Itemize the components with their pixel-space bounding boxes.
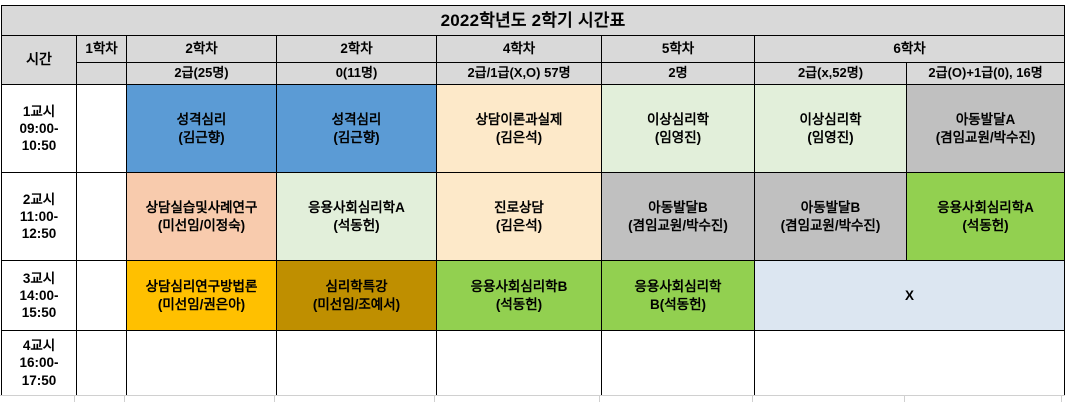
course-name: 응용사회심리학	[604, 278, 752, 295]
course-teacher: B(석동헌)	[604, 296, 752, 313]
header-sub-row: 2급(25명) 0(11명) 2급/1급(X,O) 57명 2명 2급(x,52…	[2, 63, 1065, 85]
header-sub-5: 2명	[602, 63, 755, 85]
course-name: 이상심리학	[604, 111, 752, 128]
period-label-3: 3교시 14:00- 15:50	[2, 261, 77, 331]
period-start: 09:00-	[19, 121, 58, 136]
table-row: 4교시 16:00- 17:50	[2, 331, 1065, 396]
class-cell-r1c6[interactable]: 이상심리학 (임영진)	[755, 85, 907, 173]
course-name: 상담이론과실제	[439, 111, 599, 128]
class-cell-r4c3[interactable]	[277, 331, 437, 396]
header-term-4: 4학차	[437, 36, 602, 63]
header-sub-2: 2급(25명)	[127, 63, 277, 85]
table-row: 3교시 14:00- 15:50 상담심리연구방법론 (미선임/권은아) 심리학…	[2, 261, 1065, 331]
course-teacher: (임영진)	[757, 129, 904, 146]
header-sub-4: 2급/1급(X,O) 57명	[437, 63, 602, 85]
class-cell-r2c3[interactable]: 응용사회심리학A (석동헌)	[277, 173, 437, 261]
class-cell-r1c3[interactable]: 성격심리 (김근향)	[277, 85, 437, 173]
period-end: 12:50	[22, 226, 57, 241]
period-start: 14:00-	[19, 288, 58, 303]
course-teacher: (미선임/권은아)	[129, 296, 274, 313]
table-row: 2교시 11:00- 12:50 상담실습및사례연구 (미선임/이정숙) 응용사…	[2, 173, 1065, 261]
class-cell-r3c4[interactable]: 응용사회심리학B (석동헌)	[437, 261, 602, 331]
course-name: 상담심리연구방법론	[129, 278, 274, 295]
header-term-2: 2학차	[127, 36, 277, 63]
course-teacher: (미선임/이정숙)	[129, 217, 274, 234]
course-teacher: (미선임/조예서)	[279, 296, 434, 313]
course-name: 상담실습및사례연구	[129, 199, 274, 216]
header-term-row: 시간 1학차 2학차 2학차 4학차 5학차 6학차	[2, 36, 1065, 63]
header-sub-6a: 2급(x,52명)	[755, 63, 907, 85]
course-teacher: (김은석)	[439, 129, 599, 146]
course-name: 심리학특강	[279, 278, 434, 295]
course-teacher: (석동헌)	[909, 217, 1062, 234]
course-name: 응용사회심리학A	[279, 199, 434, 216]
period-label-2: 2교시 11:00- 12:50	[2, 173, 77, 261]
page-title: 2022학년도 2학기 시간표	[2, 6, 1065, 36]
class-cell-r2c1[interactable]	[77, 173, 127, 261]
course-teacher: (임영진)	[604, 129, 752, 146]
class-cell-r1c1[interactable]	[77, 85, 127, 173]
class-cell-r1c2[interactable]: 성격심리 (김근향)	[127, 85, 277, 173]
course-name: X	[757, 287, 1062, 304]
course-teacher: (석동헌)	[279, 217, 434, 234]
course-name: 아동발달A	[909, 111, 1062, 128]
class-cell-r3c1[interactable]	[77, 261, 127, 331]
class-cell-r2c4[interactable]: 진로상담 (김은석)	[437, 173, 602, 261]
course-teacher: (김근향)	[279, 129, 434, 146]
class-cell-r3c3[interactable]: 심리학특강 (미선임/조예서)	[277, 261, 437, 331]
class-cell-r2c7[interactable]: 응용사회심리학A (석동헌)	[907, 173, 1065, 261]
class-cell-r1c4[interactable]: 상담이론과실제 (김은석)	[437, 85, 602, 173]
header-term-3: 2학차	[277, 36, 437, 63]
header-sub-6b: 2급(O)+1급(0), 16명	[907, 63, 1065, 85]
course-teacher: (김근향)	[129, 129, 274, 146]
header-sub-1	[77, 63, 127, 85]
period-end: 10:50	[22, 138, 57, 153]
period-name: 3교시	[23, 271, 55, 286]
period-start: 16:00-	[19, 355, 58, 370]
title-row: 2022학년도 2학기 시간표	[2, 6, 1065, 36]
period-start: 11:00-	[20, 209, 58, 224]
header-time-label: 시간	[2, 36, 77, 85]
spreadsheet-sheet: 2022학년도 2학기 시간표 시간 1학차 2학차 2학차 4학차 5학차 6…	[0, 0, 1065, 401]
table-row: 1교시 09:00- 10:50 성격심리 (김근향) 성격심리 (김근향)	[2, 85, 1065, 173]
period-name: 2교시	[23, 192, 55, 207]
course-teacher: (겸임교원/박수진)	[604, 217, 752, 234]
course-teacher: (석동헌)	[439, 296, 599, 313]
class-cell-r2c5[interactable]: 아동발달B (겸임교원/박수진)	[602, 173, 755, 261]
course-name: 응용사회심리학B	[439, 278, 599, 295]
period-label-4: 4교시 16:00- 17:50	[2, 331, 77, 396]
course-name: 아동발달B	[604, 199, 752, 216]
class-cell-r3c6-merged[interactable]: X	[755, 261, 1065, 331]
course-teacher: (김은석)	[439, 217, 599, 234]
class-cell-r2c6[interactable]: 아동발달B (겸임교원/박수진)	[755, 173, 907, 261]
period-end: 15:50	[22, 305, 57, 320]
sheet-bottom-edge	[0, 395, 1065, 401]
header-term-1: 1학차	[77, 36, 127, 63]
class-cell-r4c6-merged[interactable]	[755, 331, 1065, 396]
period-label-1: 1교시 09:00- 10:50	[2, 85, 77, 173]
course-name: 성격심리	[279, 111, 434, 128]
header-sub-3: 0(11명)	[277, 63, 437, 85]
course-name: 진로상담	[439, 199, 599, 216]
course-teacher: (겸임교원/박수진)	[909, 129, 1062, 146]
course-name: 아동발달B	[757, 199, 904, 216]
class-cell-r4c4[interactable]	[437, 331, 602, 396]
class-cell-r4c5[interactable]	[602, 331, 755, 396]
class-cell-r1c7[interactable]: 아동발달A (겸임교원/박수진)	[907, 85, 1065, 173]
course-name: 응용사회심리학A	[909, 199, 1062, 216]
period-name: 1교시	[23, 104, 55, 119]
class-cell-r4c2[interactable]	[127, 331, 277, 396]
period-end: 17:50	[22, 373, 57, 388]
timetable: 2022학년도 2학기 시간표 시간 1학차 2학차 2학차 4학차 5학차 6…	[1, 5, 1065, 396]
course-name: 이상심리학	[757, 111, 904, 128]
header-term-5: 5학차	[602, 36, 755, 63]
period-name: 4교시	[23, 338, 55, 353]
class-cell-r3c5[interactable]: 응용사회심리학 B(석동헌)	[602, 261, 755, 331]
course-name: 성격심리	[129, 111, 274, 128]
class-cell-r2c2[interactable]: 상담실습및사례연구 (미선임/이정숙)	[127, 173, 277, 261]
class-cell-r4c1[interactable]	[77, 331, 127, 396]
class-cell-r1c5[interactable]: 이상심리학 (임영진)	[602, 85, 755, 173]
course-teacher: (겸임교원/박수진)	[757, 217, 904, 234]
class-cell-r3c2[interactable]: 상담심리연구방법론 (미선임/권은아)	[127, 261, 277, 331]
header-term-6: 6학차	[755, 36, 1065, 63]
